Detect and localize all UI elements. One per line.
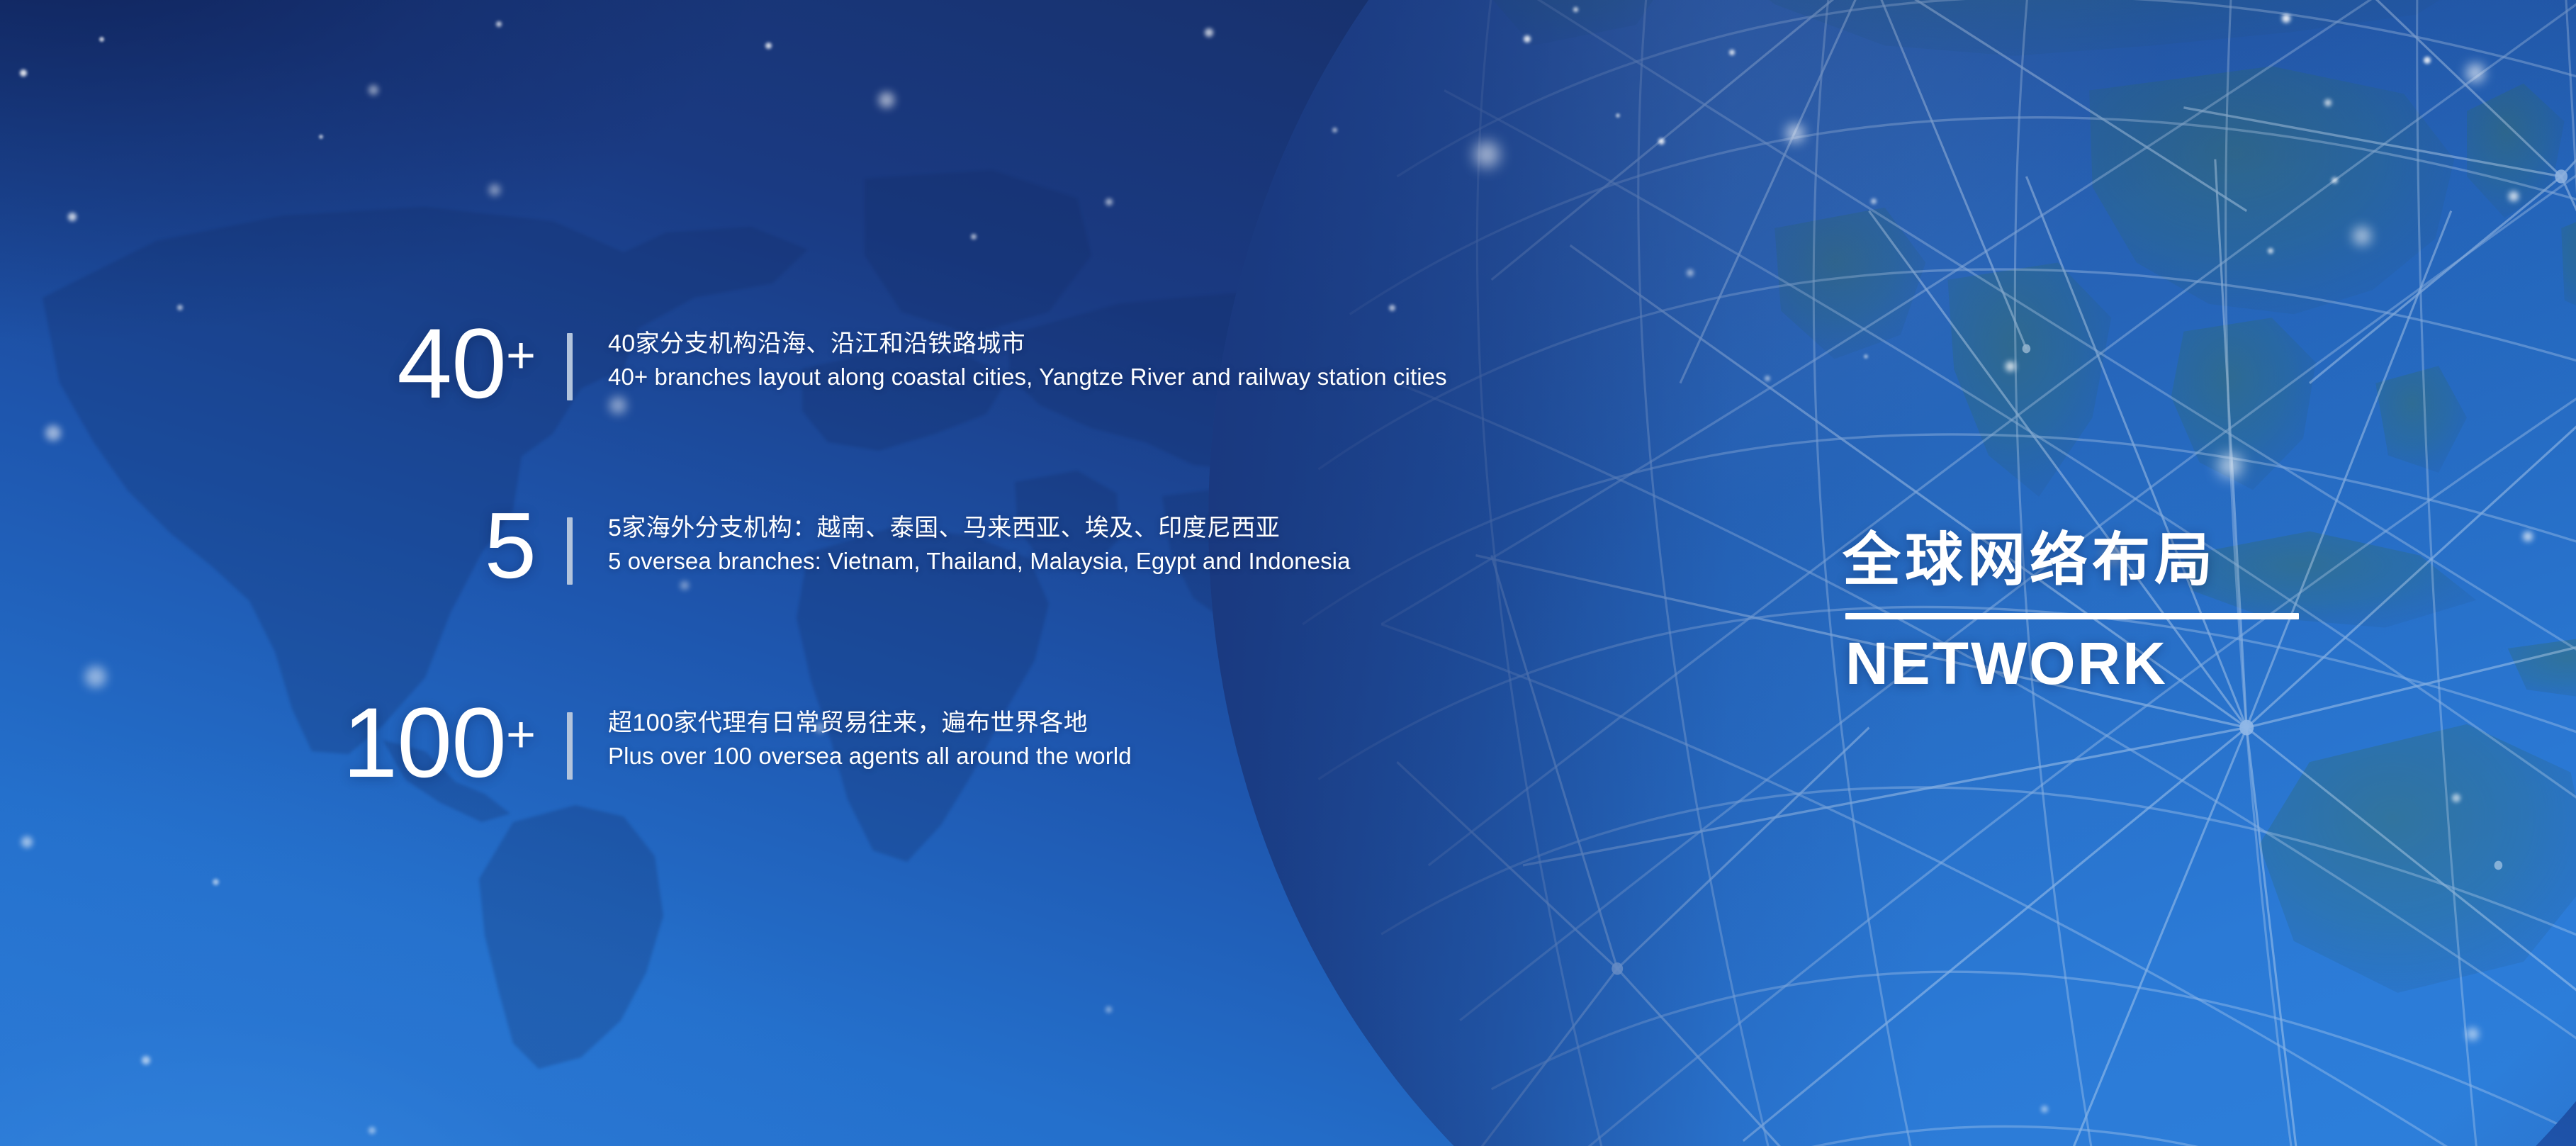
stat-number: 100+ [0,691,567,794]
stat-divider-bar [567,517,573,585]
stat-text-en: 40+ branches layout along coastal cities… [608,360,1665,394]
stat-text-cn: 超100家代理有日常贸易往来，遍布世界各地 [608,707,1665,739]
stat-number-suffix: + [506,707,536,763]
title-english: NETWORK [1843,629,2310,697]
stat-text-en: Plus over 100 oversea agents all around … [608,739,1665,773]
stat-text-group: 40家分支机构沿海、沿江和沿铁路城市 40+ branches layout a… [608,312,1665,394]
stat-row: 100+ 超100家代理有日常贸易往来，遍布世界各地 Plus over 100… [0,691,1665,861]
stat-text-group: 5家海外分支机构：越南、泰国、马来西亚、埃及、印度尼西亚 5 oversea b… [608,496,1665,578]
stat-divider-bar [567,712,573,780]
banner-title-block: 全球网络布局 NETWORK [1843,528,2310,697]
stat-number-value: 100 [342,687,506,798]
title-chinese: 全球网络布局 [1843,528,2310,593]
stat-text-en: 5 oversea branches: Vietnam, Thailand, M… [608,544,1665,578]
stat-text-group: 超100家代理有日常贸易往来，遍布世界各地 Plus over 100 over… [608,691,1665,773]
stat-number: 5 [0,496,567,595]
stats-list: 40+ 40家分支机构沿海、沿江和沿铁路城市 40+ branches layo… [0,312,1665,861]
network-banner: 40+ 40家分支机构沿海、沿江和沿铁路城市 40+ branches layo… [0,0,2576,1146]
stat-number-value: 40 [397,308,506,419]
stat-row: 5 5家海外分支机构：越南、泰国、马来西亚、埃及、印度尼西亚 5 oversea… [0,496,1665,691]
stat-number: 40+ [0,312,567,415]
stat-number-suffix: + [506,327,536,384]
stat-number-value: 5 [485,493,536,597]
stat-text-cn: 40家分支机构沿海、沿江和沿铁路城市 [608,327,1665,360]
stat-divider-bar [567,333,573,400]
title-rule [1845,613,2299,619]
stat-row: 40+ 40家分支机构沿海、沿江和沿铁路城市 40+ branches layo… [0,312,1665,496]
stat-text-cn: 5家海外分支机构：越南、泰国、马来西亚、埃及、印度尼西亚 [608,512,1665,544]
